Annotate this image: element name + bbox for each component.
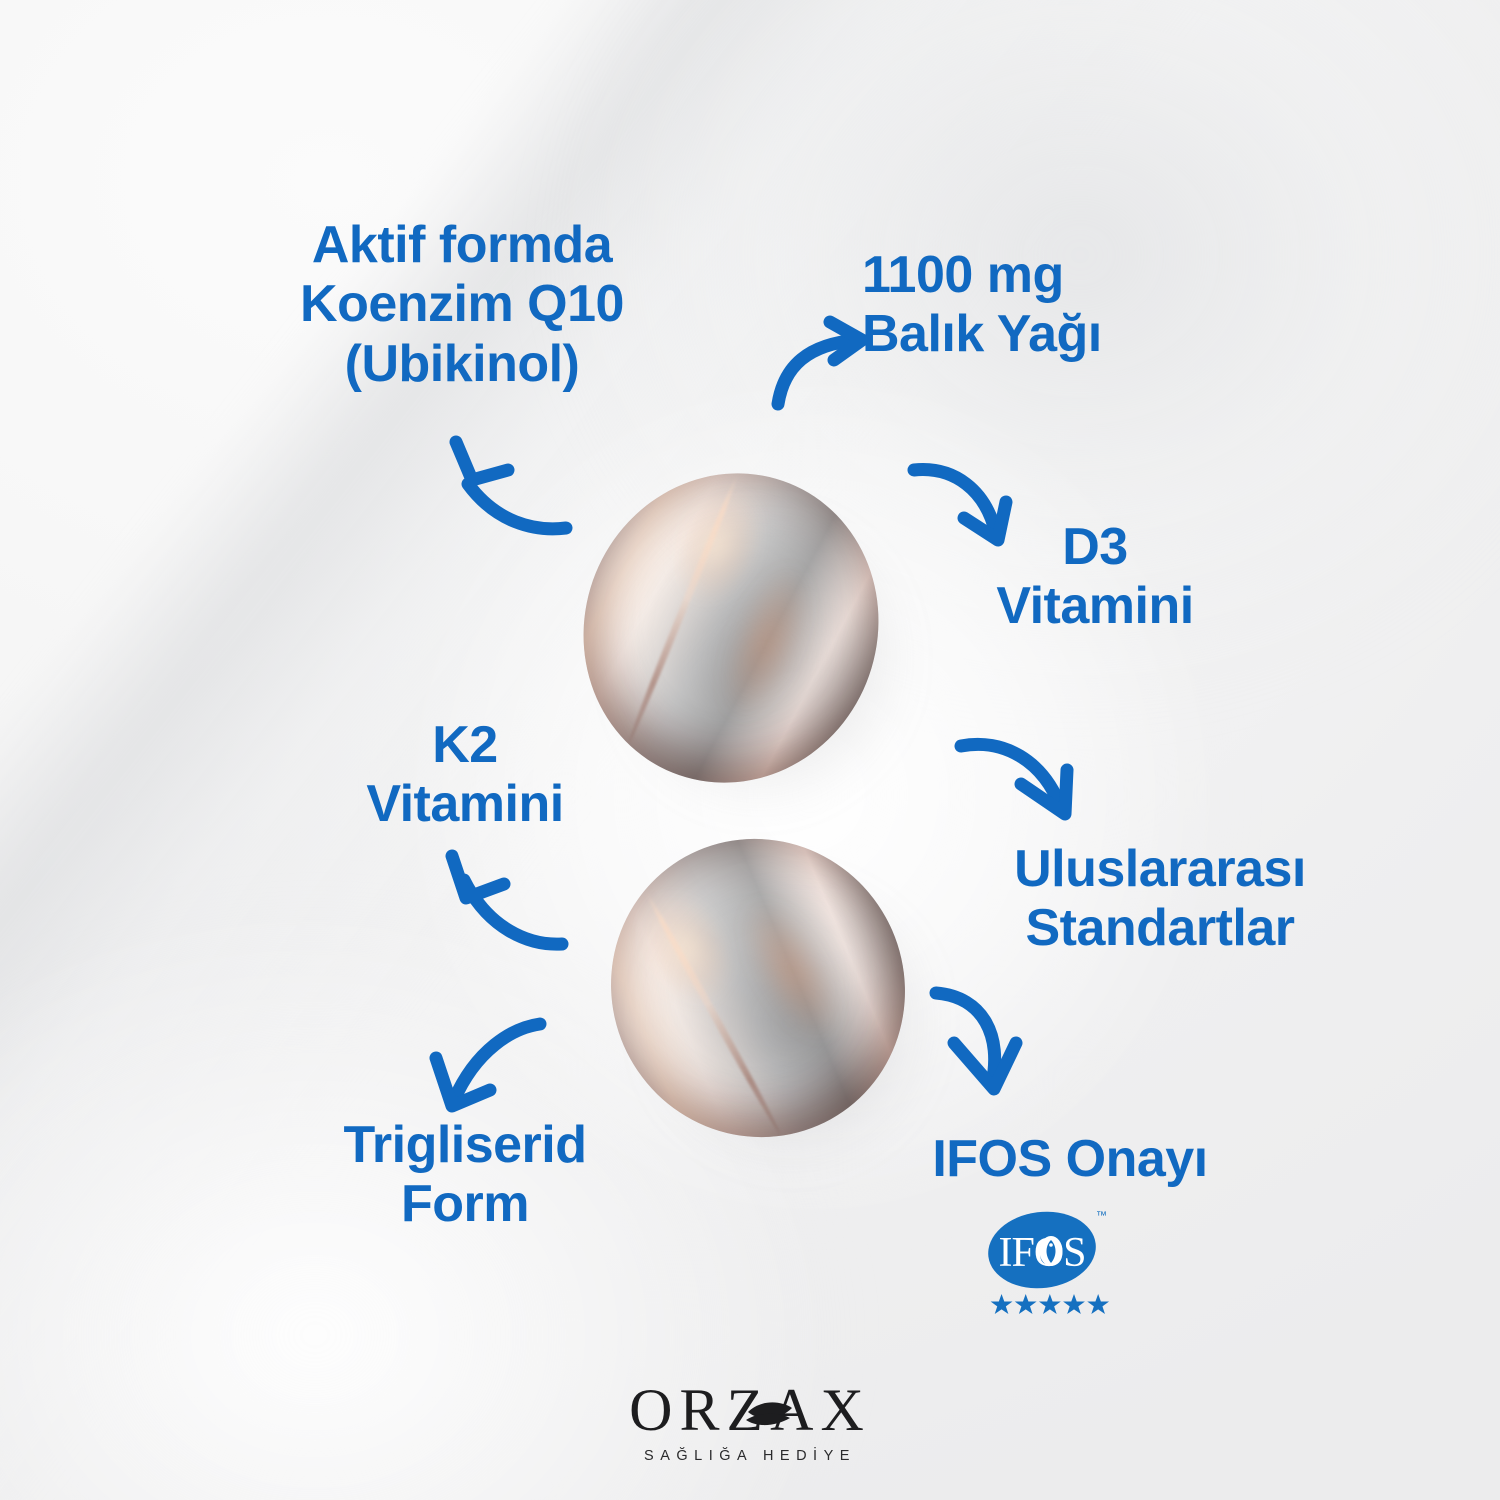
- callout-international-standards: Uluslararası Standartlar: [960, 840, 1360, 959]
- capsule-highlight-secondary: [725, 886, 857, 1054]
- callout-ifos-approval: IFOS Onayı: [880, 1130, 1260, 1189]
- orzax-tagline: SAĞLIĞA HEDİYE: [644, 1446, 856, 1464]
- ifos-star-rating: [991, 1294, 1109, 1314]
- ifos-trademark: ™: [1096, 1210, 1107, 1222]
- orzax-brand-logo: ORZAX SAĞLIĞA HEDİYE: [600, 1372, 900, 1478]
- ifos-certification-badge: IFOS ™: [974, 1202, 1116, 1326]
- callout-vitamin-d3: D3 Vitamini: [930, 518, 1260, 637]
- callout-coenzyme-q10: Aktif formda Koenzim Q10 (Ubikinol): [252, 216, 672, 394]
- callout-triglyceride-form: Trigliserid Form: [300, 1116, 630, 1235]
- orzax-wordmark: ORZAX: [629, 1377, 871, 1443]
- callout-vitamin-k2: K2 Vitamini: [300, 716, 630, 835]
- callout-fish-oil: 1100 mg Balık Yağı: [862, 246, 1222, 365]
- capsule-highlight: [619, 875, 754, 1022]
- infographic-canvas: Aktif formda Koenzim Q10 (Ubikinol) 1100…: [0, 0, 1500, 1500]
